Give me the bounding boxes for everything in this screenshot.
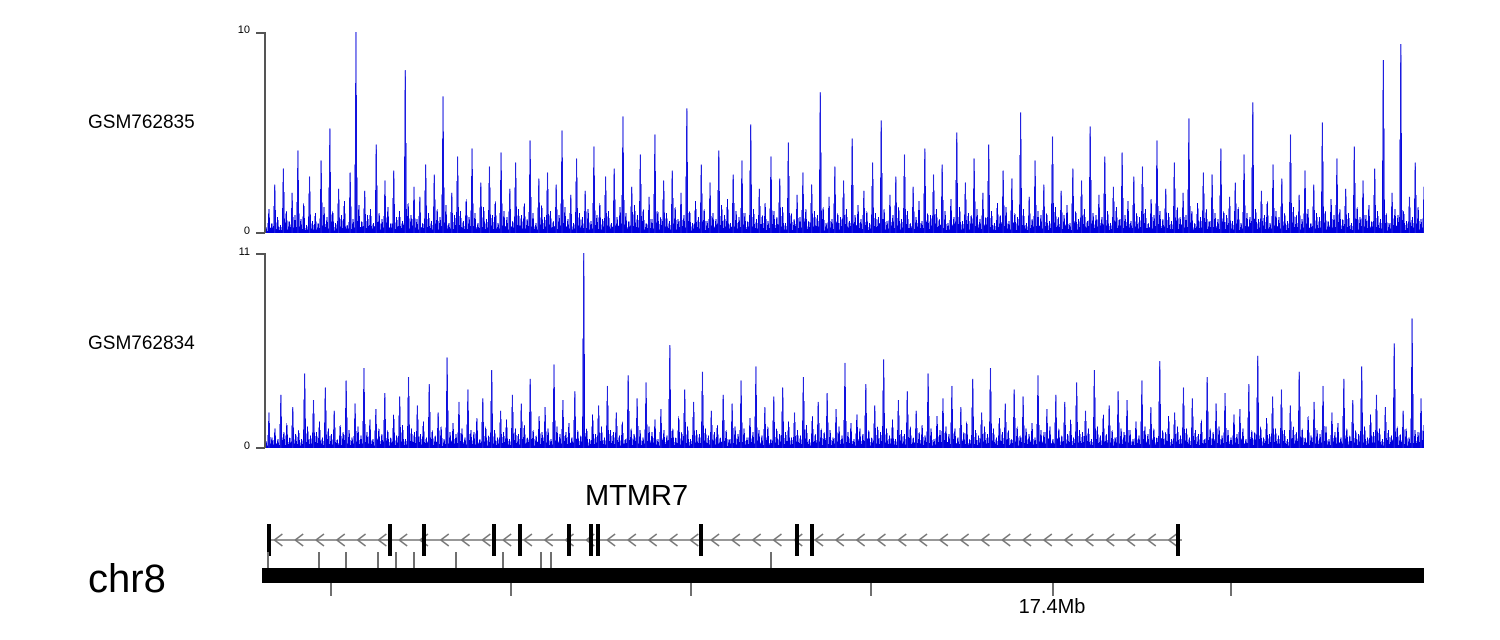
ideogram-upper-tick [550, 552, 552, 568]
coverage-plot-gsm762835[interactable] [266, 32, 1424, 233]
ideogram-axis-tick [1230, 583, 1232, 596]
track2-y-max-label: 11 [222, 246, 250, 258]
coverage-plot-gsm762834[interactable] [266, 253, 1424, 448]
ideogram-upper-tick [318, 552, 320, 568]
track1-y-max-label: 10 [222, 24, 250, 36]
ideogram-upper-tick [413, 552, 415, 568]
genome-browser-view: GSM762835 10 0 GSM762834 11 0 MTMR7 chr8… [0, 0, 1500, 640]
ideogram-upper-tick [345, 552, 347, 568]
chromosome-label: chr8 [88, 557, 166, 602]
ideogram-axis-tick [690, 583, 692, 596]
genomic-coordinate-label: 17.4Mb [972, 596, 1132, 619]
track-label-gsm762835: GSM762835 [88, 112, 195, 134]
ideogram-upper-tick [395, 552, 397, 568]
ideogram-axis-tick [330, 583, 332, 596]
gene-name-label[interactable]: MTMR7 [585, 480, 688, 513]
ideogram-upper-tick [455, 552, 457, 568]
chromosome-ideogram-bar[interactable] [262, 568, 1424, 583]
ideogram-axis-tick [1052, 583, 1054, 596]
ideogram-upper-tick [540, 552, 542, 568]
track-label-gsm762834: GSM762834 [88, 333, 195, 355]
ideogram-upper-tick [770, 552, 772, 568]
ideogram-upper-tick [502, 552, 504, 568]
track1-y-min-label: 0 [222, 225, 250, 237]
track2-y-min-label: 0 [222, 440, 250, 452]
ideogram-axis-tick [870, 583, 872, 596]
ideogram-upper-tick [377, 552, 379, 568]
ideogram-axis-tick [510, 583, 512, 596]
ideogram-upper-tick [267, 552, 269, 568]
gene-model-track[interactable] [0, 516, 1500, 560]
